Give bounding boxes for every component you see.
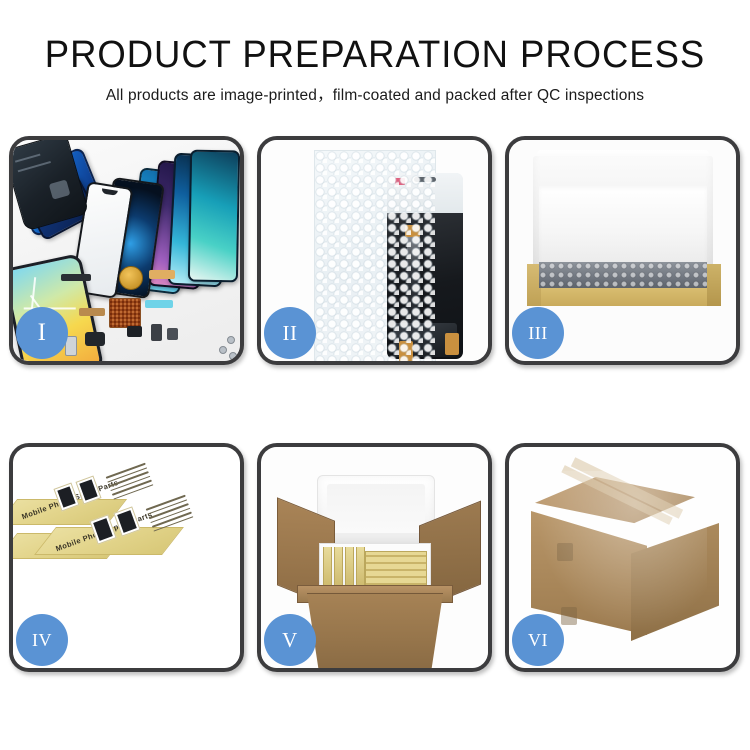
- part-chip: [127, 326, 142, 337]
- process-step-6: VI: [505, 443, 740, 672]
- part-flex-cable-2: [145, 300, 173, 308]
- process-step-1: I: [9, 136, 244, 365]
- step-numeral: V: [282, 628, 298, 653]
- housing-detail: [49, 179, 71, 199]
- step-numeral: II: [283, 321, 298, 346]
- part-speaker-coil: [119, 266, 143, 290]
- part-flex-cable-3: [79, 308, 105, 316]
- step-badge-4: IV: [16, 614, 68, 666]
- process-step-4: Mobile Phone Spare Parts Mobile Phone Sp…: [9, 443, 244, 672]
- foam-sheet: [539, 186, 707, 262]
- part-screw: [229, 352, 237, 360]
- box-side-face: [45, 591, 215, 617]
- part-screw: [227, 336, 235, 344]
- process-step-grid: I: [9, 136, 741, 696]
- step-numeral: VI: [528, 630, 548, 651]
- box-spec-lines: [146, 495, 195, 535]
- part-flex-cable-1: [149, 270, 175, 279]
- step-badge-1: I: [16, 307, 68, 359]
- part-copper-plate: [109, 298, 141, 328]
- box-tray-right: [707, 264, 721, 306]
- product-preparation-infographic: PRODUCT PREPARATION PROCESS All products…: [0, 0, 750, 750]
- part-battery: [151, 324, 162, 341]
- bubble-texture: [539, 262, 707, 288]
- process-step-5: V: [257, 443, 492, 672]
- step-numeral: I: [38, 319, 47, 347]
- box-side-face: [45, 551, 215, 565]
- page-subtitle: All products are image-printed，film-coat…: [0, 74, 750, 105]
- box-spec-lines: [106, 463, 155, 503]
- bubble-texture: [315, 151, 435, 361]
- part-bar: [61, 274, 91, 281]
- process-step-2: II: [257, 136, 492, 365]
- part-bracket: [167, 328, 178, 340]
- notch-icon: [101, 188, 118, 195]
- highlight-overlay: [527, 471, 707, 641]
- housing-detail: [18, 161, 51, 172]
- step-numeral: IV: [32, 630, 52, 651]
- box-side-face: [45, 565, 215, 591]
- process-step-3: III: [505, 136, 740, 365]
- part-speaker: [85, 332, 105, 346]
- step-badge-3: III: [512, 307, 564, 359]
- housing-detail: [15, 154, 41, 163]
- bubble-wrapped-contents: [539, 262, 707, 288]
- header: PRODUCT PREPARATION PROCESS All products…: [0, 0, 750, 105]
- step-badge-5: V: [264, 614, 316, 666]
- box-side-face: [45, 617, 215, 643]
- carton-front: [301, 593, 449, 668]
- box-side-face: [45, 643, 215, 668]
- step-badge-6: VI: [512, 614, 564, 666]
- part-screw: [219, 346, 227, 354]
- step-badge-2: II: [264, 307, 316, 359]
- phone-display-4: [188, 150, 240, 283]
- page-title: PRODUCT PREPARATION PROCESS: [15, 0, 735, 74]
- connector-right: [445, 333, 459, 355]
- step-numeral: III: [528, 323, 547, 344]
- bubble-wrap-bag: [314, 150, 436, 361]
